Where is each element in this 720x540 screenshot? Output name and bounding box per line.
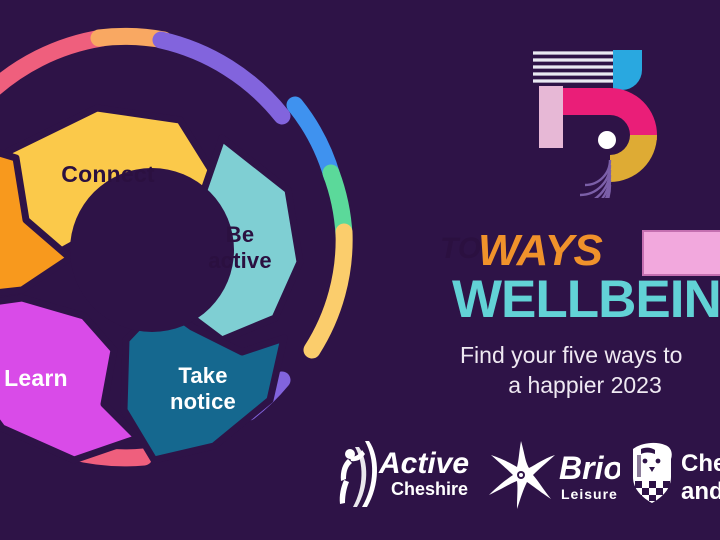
brio-name-line-1: Brio (559, 450, 620, 486)
subtitle: Find your five ways to a happier 2023 (460, 340, 720, 400)
lion-shield-crest-icon (633, 443, 672, 503)
active-cheshire-name-line-2: Cheshire (391, 479, 468, 499)
five-logo-purple-arcs (560, 160, 610, 198)
ways-word: WAYS (478, 228, 602, 274)
wheel-label-connect: Connect (61, 161, 155, 187)
subtitle-line-2: a happier 2023 (460, 370, 710, 400)
partner-logo-row: Active Cheshire Brio Leisure (335, 437, 720, 512)
five-logo-blue-quarter (613, 50, 642, 90)
five-logo-gold-arc (610, 135, 657, 182)
wheel-label-learn: Learn (4, 365, 68, 391)
wheel-label-be-active-2: active (208, 248, 272, 273)
partner-logo-brio-leisure[interactable]: Brio Leisure (485, 437, 620, 509)
cwac-name-line-2: and (681, 478, 720, 505)
wheel-label-be-active: Be (226, 222, 255, 247)
star-swirl-icon (489, 441, 555, 509)
outer-arc-right (295, 105, 344, 350)
cwac-name-line-1: Che (681, 450, 720, 477)
brio-name-line-2: Leisure (561, 486, 618, 502)
subtitle-line-1: Find your five ways to (460, 342, 682, 368)
five-logo-stripes (533, 53, 613, 81)
five-logo-white-dot (598, 131, 616, 149)
running-figure-icon (340, 441, 377, 507)
number-five-logo (525, 48, 670, 198)
to-word: TO (440, 232, 481, 266)
partner-logo-active-cheshire[interactable]: Active Cheshire (335, 437, 475, 509)
active-cheshire-name-line-1: Active (378, 447, 469, 480)
wheel-label-take-notice-2: notice (170, 389, 236, 414)
poster-canvas: Connect Be active Take notice Learn Give (0, 0, 720, 540)
wheel-label-take-notice: Take (178, 363, 227, 388)
wellbeing-word: WELLBEING (452, 272, 720, 328)
partner-logo-cheshire-west-and-chester[interactable]: Che and (625, 437, 720, 509)
five-logo-pink-stem (539, 86, 563, 148)
headline-column: WAYS TO WELLBEING Find your five ways to… (430, 0, 720, 425)
five-ways-wheel: Connect Be active Take notice Learn Give (0, 0, 412, 510)
